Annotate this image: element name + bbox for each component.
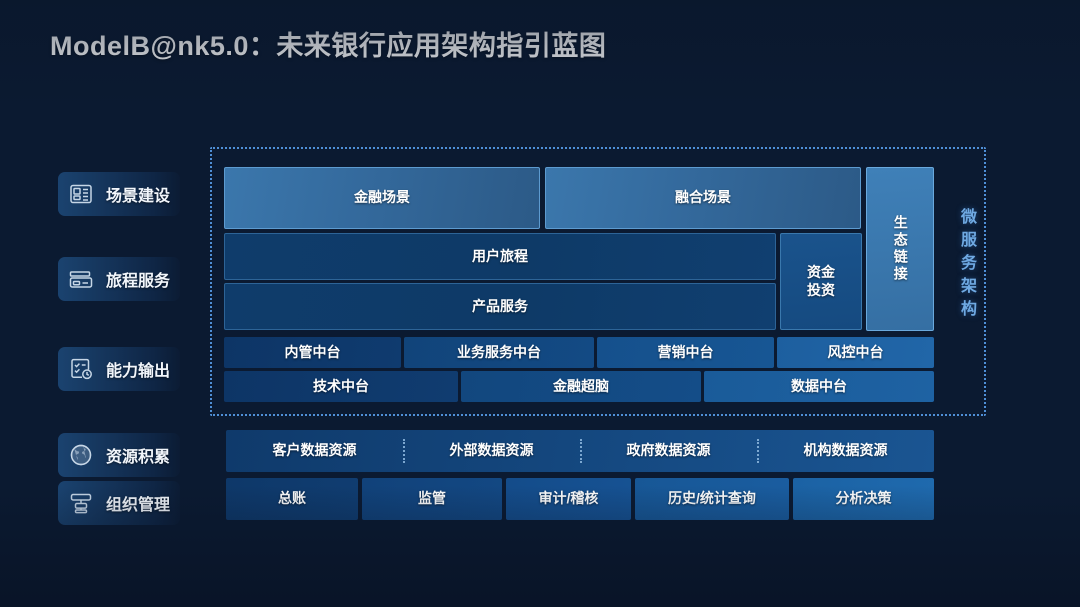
block-label: 金融场景 [354,189,410,207]
page-title: ModelB@nk5.0：未来银行应用架构指引蓝图 [50,24,606,63]
rail-item-label: 能力输出 [106,357,170,381]
block-label: 数据中台 [791,378,847,396]
block-label: 审计/稽核 [539,490,599,508]
block-integrated-scene[interactable]: 融合场景 [545,167,861,229]
rail-item-capability[interactable]: 能力输出 [58,347,180,391]
block-business-service-mid-platform[interactable]: 业务服务中台 [404,337,594,368]
block-product-service[interactable]: 产品服务 [224,283,776,330]
block-label: 技术中台 [313,378,369,396]
block-label: 营销中台 [658,344,714,362]
block-label: 客户数据资源 [273,442,357,460]
block-label: 历史/统计查询 [668,490,756,508]
block-technology-mid-platform[interactable]: 技术中台 [224,371,458,402]
block-label: 监管 [418,490,446,508]
block-label: 政府数据资源 [627,442,711,460]
rail-item-label: 旅程服务 [106,267,170,291]
rail-item-label: 资源积累 [106,443,170,467]
block-financial-scene[interactable]: 金融场景 [224,167,540,229]
globe-icon [66,440,96,470]
block-customer-data-resource[interactable]: 客户数据资源 [226,430,403,472]
rail-item-organization[interactable]: 组织管理 [58,481,180,525]
block-label: 机构数据资源 [804,442,888,460]
block-supervision[interactable]: 监管 [362,478,502,520]
block-label: 内管中台 [285,344,341,362]
org-chart-icon [66,488,96,518]
block-analysis-decision[interactable]: 分析决策 [793,478,934,520]
block-label: 融合场景 [675,189,731,207]
layout-grid-icon [66,179,96,209]
block-label: 外部数据资源 [450,442,534,460]
block-label: 用户旅程 [472,248,528,266]
block-fund-investment[interactable]: 资金 投资 [780,233,862,330]
resource-row[interactable]: 客户数据资源 外部数据资源 政府数据资源 机构数据资源 [226,430,934,472]
block-label: 总账 [278,490,306,508]
block-government-data-resource[interactable]: 政府数据资源 [580,430,757,472]
block-external-data-resource[interactable]: 外部数据资源 [403,430,580,472]
rail-item-label: 组织管理 [106,491,170,515]
block-marketing-mid-platform[interactable]: 营销中台 [597,337,774,368]
block-label: 资金 投资 [807,264,835,299]
rail-item-label: 场景建设 [106,182,170,206]
block-data-mid-platform[interactable]: 数据中台 [704,371,934,402]
rail-item-resource[interactable]: 资源积累 [58,433,180,477]
block-audit-inspection[interactable]: 审计/稽核 [506,478,631,520]
block-user-journey[interactable]: 用户旅程 [224,233,776,280]
block-label: 金融超脑 [553,378,609,396]
card-icon [66,264,96,294]
block-risk-control-mid-platform[interactable]: 风控中台 [777,337,934,368]
block-internal-mid-platform[interactable]: 内管中台 [224,337,401,368]
block-label: 分析决策 [836,490,892,508]
block-history-statistics-query[interactable]: 历史/统计查询 [635,478,789,520]
block-label: 业务服务中台 [457,344,541,362]
block-general-ledger[interactable]: 总账 [226,478,358,520]
block-financial-brain[interactable]: 金融超脑 [461,371,701,402]
rail-item-scene[interactable]: 场景建设 [58,172,180,216]
block-institution-data-resource[interactable]: 机构数据资源 [757,430,934,472]
block-label: 产品服务 [472,298,528,316]
slide-canvas: ModelB@nk5.0：未来银行应用架构指引蓝图 场景建设 [0,0,1080,607]
microservice-architecture-label: 微服务架构 [944,208,974,323]
rail-item-journey[interactable]: 旅程服务 [58,257,180,301]
block-label: 风控中台 [828,344,884,362]
block-label: 生态链接 [891,215,909,283]
category-rail: 场景建设 旅程服务 [58,140,218,530]
checklist-clock-icon [66,354,96,384]
block-ecosystem-link[interactable]: 生态链接 [866,167,934,331]
